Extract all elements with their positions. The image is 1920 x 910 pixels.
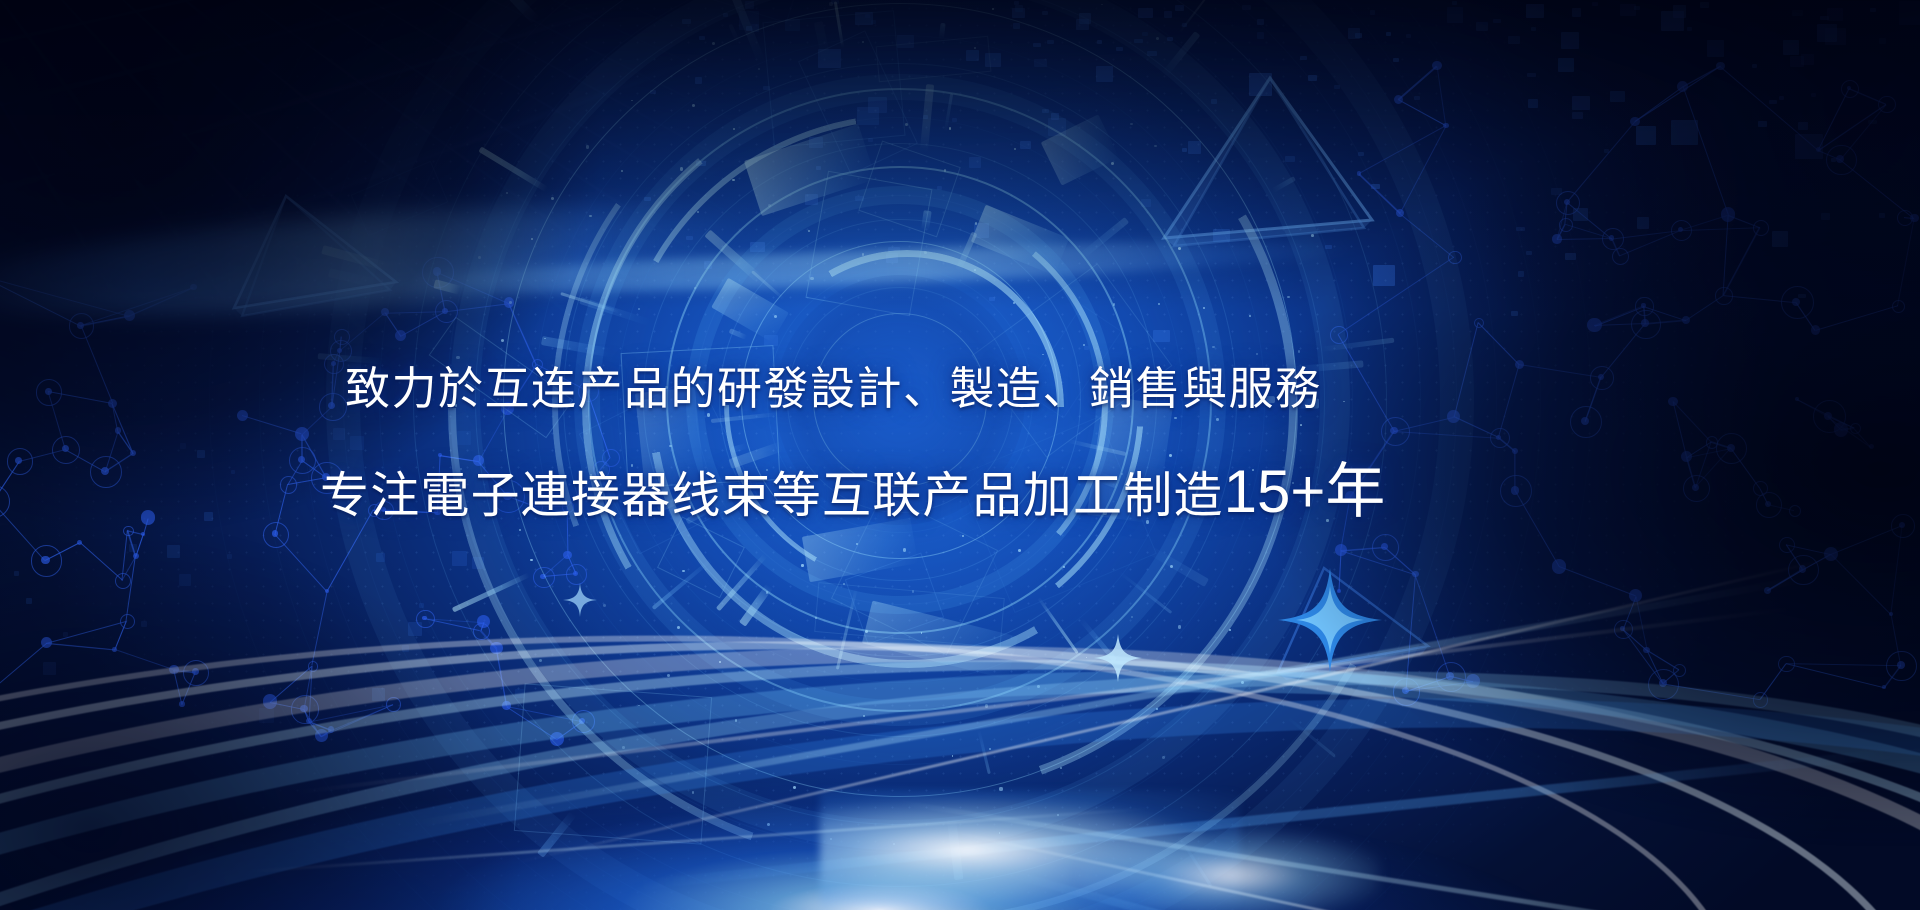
hud-particle [974, 269, 976, 271]
decor-square [1634, 6, 1640, 10]
hud-core [775, 275, 1025, 525]
circuit-node [1878, 96, 1896, 114]
circuit-line [1680, 215, 1728, 231]
decor-square [1783, 40, 1799, 55]
decor-square [1493, 19, 1501, 23]
circuit-node [1897, 210, 1913, 226]
hud-particle [531, 238, 533, 240]
circuit-line [1759, 663, 1786, 700]
hud-particle [1083, 344, 1085, 346]
circuit-line [1622, 629, 1663, 684]
circuit-node [41, 637, 52, 648]
circuit-line [1831, 554, 1892, 615]
hud-particle [975, 222, 978, 225]
circuit-line [1890, 526, 1902, 615]
hud-particle [631, 100, 633, 102]
hud-particle [478, 256, 481, 259]
circuit-line [1728, 215, 1760, 228]
circuit-node-core [1765, 501, 1772, 508]
hud-particle [1170, 565, 1173, 568]
circuit-line [1567, 202, 1612, 239]
hud-particle [999, 832, 1001, 834]
hud-particle [1287, 296, 1290, 299]
hud-particle [1229, 629, 1231, 631]
circuit-line [1594, 306, 1644, 327]
hud-particle [551, 197, 554, 200]
hud-particle [539, 659, 542, 662]
circuit-line [1683, 66, 1721, 88]
decor-square [1636, 126, 1656, 145]
circuit-line [46, 643, 115, 651]
circuit-node [1631, 310, 1660, 339]
circuit-node [1834, 422, 1848, 436]
decor-square [1637, 217, 1649, 229]
hud-particle [497, 398, 499, 400]
circuit-node [1668, 397, 1677, 406]
circuit-node-core [1727, 444, 1735, 452]
hud-tick [1296, 399, 1319, 409]
hud-particle [682, 570, 685, 573]
hud-particle [767, 823, 770, 826]
decor-square [1528, 99, 1538, 108]
circuit-line [1786, 663, 1901, 666]
hud-particle [509, 301, 512, 304]
hud-particle [1037, 685, 1040, 688]
circuit-line [1840, 104, 1887, 160]
circuit-node [1869, 444, 1874, 449]
circuit-node [1716, 433, 1747, 464]
circuit-line [1840, 159, 1915, 219]
decor-square [1817, 24, 1837, 42]
hud-particle [1158, 303, 1160, 305]
hud-particle [752, 368, 754, 370]
circuit-line [1673, 402, 1688, 458]
decor-square [1527, 73, 1536, 77]
circuit-node [1721, 207, 1735, 221]
hud-particle [924, 251, 927, 254]
circuit-line [0, 461, 19, 501]
decor-square [1758, 121, 1767, 127]
decor-square [1795, 134, 1823, 159]
hud-particle [843, 583, 845, 585]
hud-particle [707, 413, 710, 416]
circuit-line [1695, 448, 1731, 488]
circuit-line [0, 643, 46, 708]
decor-square [1811, 93, 1816, 97]
circuit-node-core [1564, 199, 1570, 205]
circuit-line [1662, 670, 1679, 685]
circuit-line [1767, 569, 1803, 591]
circuit-node [77, 540, 82, 545]
four-point-sparkle-right [1270, 560, 1390, 685]
decor-square [1825, 28, 1846, 45]
circuit-line [1818, 88, 1850, 150]
circuit-line [1646, 650, 1663, 684]
hud-particle [1162, 756, 1165, 759]
decor-square [1820, 16, 1829, 20]
four-point-sparkle-center [1090, 630, 1146, 691]
hud-particle [774, 315, 777, 318]
hud-particle [1103, 511, 1106, 514]
circuit-node [1614, 620, 1632, 638]
circuit-node [1682, 316, 1690, 324]
circuit-node [1788, 555, 1818, 585]
hud-particle [631, 464, 634, 467]
decor-square [1620, 4, 1636, 16]
circuit-node [112, 647, 117, 652]
circuit-line [1622, 629, 1647, 651]
circuit-line [1759, 663, 1786, 700]
circuit-line [1635, 66, 1721, 122]
circuit-node [1753, 220, 1769, 236]
circuit-node-core [1692, 484, 1699, 491]
circuit-line [1818, 104, 1886, 151]
circuit-line [46, 643, 115, 651]
decor-square [1526, 4, 1544, 18]
circuit-line [1759, 488, 1768, 505]
hud-particle [1018, 549, 1021, 552]
circuit-node-core [15, 457, 22, 464]
circuit-node [1590, 366, 1614, 390]
circuit-line [1682, 87, 1728, 215]
circuit-node-core [1836, 155, 1844, 163]
circuit-line [1662, 670, 1679, 685]
circuit-node-core [1659, 679, 1667, 687]
decor-square [1769, 100, 1777, 104]
decor-square [1752, 64, 1757, 68]
decor-square [1868, 120, 1877, 124]
circuit-line [1730, 448, 1760, 489]
hud-particle [694, 287, 696, 289]
circuit-node [1824, 547, 1838, 561]
circuit-line [1849, 88, 1886, 105]
circuit-line [1722, 215, 1728, 295]
circuit-node [1779, 537, 1795, 553]
decor-square [1572, 8, 1581, 17]
circuit-node [1826, 145, 1856, 175]
hud-frame [763, 10, 907, 148]
circuit-node [1756, 492, 1782, 518]
hud-particle [1174, 417, 1176, 419]
decor-square [1592, 2, 1598, 6]
hud-particle [1113, 303, 1115, 305]
circuit-line [1646, 650, 1679, 671]
circuit-node [1910, 214, 1918, 222]
circuit-line [1723, 227, 1761, 296]
circuit-line [1622, 629, 1647, 651]
circuit-line [1802, 554, 1831, 570]
circuit-node-core [1847, 86, 1852, 91]
circuit-line [1711, 441, 1731, 448]
hud-particle [586, 145, 589, 148]
hud-particle [455, 404, 457, 406]
circuit-line [1759, 488, 1768, 505]
circuit-node-core [62, 445, 69, 452]
circuit-line [1786, 544, 1803, 570]
circuit-line [1686, 441, 1711, 457]
circuit-node [1889, 612, 1893, 616]
circuit-line [1849, 88, 1886, 105]
decor-square [1531, 27, 1536, 31]
circuit-line [1797, 399, 1855, 429]
circuit-node-core [1598, 374, 1604, 380]
hud-particle [862, 41, 864, 43]
circuit-line [1594, 306, 1644, 327]
hud-particle [677, 626, 680, 629]
circuit-line [1786, 544, 1803, 570]
hud-particle [801, 564, 803, 566]
circuit-line [0, 501, 46, 561]
circuit-node-core [1641, 303, 1645, 307]
circuit-line [1680, 227, 1759, 231]
hud-particle [944, 169, 947, 172]
hud-particle [1178, 625, 1181, 628]
hud-particle [667, 674, 670, 677]
four-point-sparkle-left [560, 580, 600, 625]
hud-particle [999, 787, 1002, 790]
circuit-node [1683, 475, 1710, 502]
circuit-line [1854, 428, 1872, 448]
hud-particle [912, 590, 914, 592]
circuit-line [1612, 230, 1681, 240]
circuit-line [1663, 683, 1760, 700]
circuit-node [1635, 297, 1653, 315]
circuit-line [1686, 295, 1724, 321]
circuit-node [1882, 685, 1886, 689]
hud-particle [539, 395, 541, 397]
circuit-line [1728, 215, 1760, 228]
decor-square [1661, 11, 1684, 31]
hud-particle [1252, 469, 1254, 471]
hud-particle [680, 167, 683, 170]
circuit-line [1831, 525, 1902, 555]
circuit-node [1671, 220, 1692, 241]
hud-particle [1300, 424, 1302, 426]
decor-square [1899, 1, 1920, 25]
circuit-line [1635, 596, 1647, 650]
hud-particle [1216, 418, 1219, 421]
decor-square [1700, 2, 1709, 8]
circuit-node-core [1792, 298, 1800, 306]
circuit-line [45, 542, 80, 561]
circuit-node [1673, 664, 1686, 677]
circuit-node [1850, 423, 1861, 434]
circuit-node [1841, 80, 1859, 98]
decor-square [1870, 8, 1876, 12]
circuit-line [1611, 238, 1620, 256]
decor-square [26, 598, 32, 604]
circuit-node [1892, 300, 1905, 313]
decor-square [43, 662, 56, 675]
circuit-node [1764, 587, 1771, 594]
decor-square [1792, 10, 1803, 16]
circuit-node [1629, 589, 1642, 602]
circuit-line [1897, 218, 1915, 306]
decor-square [1508, 36, 1520, 44]
circuit-node-core [1897, 661, 1905, 669]
hud-particle [985, 704, 988, 707]
circuit-line [1730, 448, 1760, 489]
circuit-line [1683, 66, 1721, 88]
circuit-line [1828, 416, 1872, 448]
decor-square [141, 621, 147, 627]
decor-square [1879, 38, 1886, 44]
decor-square [63, 632, 68, 637]
circuit-node-core [1620, 626, 1625, 631]
circuit-node [1891, 514, 1915, 538]
circuit-node-core [1678, 227, 1683, 232]
circuit-node [1781, 286, 1814, 319]
circuit-line [1904, 217, 1914, 219]
hud-block [635, 387, 705, 493]
circuit-line [1635, 66, 1721, 122]
circuit-line [1635, 87, 1684, 123]
circuit-node-core [1824, 412, 1833, 421]
circuit-line [1695, 442, 1712, 488]
circuit-line [1559, 567, 1636, 597]
hud-particle [856, 543, 858, 545]
circuit-line [1635, 87, 1684, 123]
circuit-node [7, 448, 34, 475]
decor-square [1671, 120, 1698, 145]
hud-particle [665, 386, 668, 389]
hud-particle [733, 128, 735, 130]
circuit-node [0, 485, 10, 518]
circuit-node [120, 614, 135, 629]
circuit-line [1687, 448, 1731, 458]
circuit-line [1828, 416, 1842, 430]
decor-square [14, 571, 19, 576]
hud-particle [905, 123, 908, 126]
circuit-node [1778, 656, 1794, 672]
circuit-line [1645, 320, 1686, 325]
circuit-line [1567, 121, 1636, 202]
hud-particle [862, 253, 865, 256]
circuit-line [1594, 323, 1645, 326]
hud-particle [732, 179, 735, 182]
decor-square [1821, 213, 1830, 220]
circuit-node-core [1899, 522, 1905, 528]
circuit-node [1813, 400, 1846, 433]
circuit-line [1797, 399, 1829, 417]
circuit-node [1789, 505, 1802, 518]
circuit-node [1602, 228, 1624, 250]
decor-square [1573, 208, 1588, 221]
decor-square [1673, 5, 1686, 18]
circuit-node [1716, 62, 1725, 71]
circuit-node-core [41, 556, 49, 564]
hud-particle [903, 548, 906, 551]
circuit-line [1720, 66, 1819, 151]
circuit-line [1643, 306, 1686, 321]
circuit-node [1681, 451, 1692, 462]
circuit-node [1715, 287, 1732, 304]
decor-square [1798, 294, 1806, 298]
decor-square [1801, 54, 1814, 65]
hud-particle [692, 104, 695, 107]
circuit-node [1706, 436, 1718, 448]
decor-square [1687, 27, 1692, 31]
hud-particle [622, 746, 625, 749]
circuit-node [1816, 147, 1821, 152]
circuit-line [1686, 457, 1696, 488]
circuit-line [1786, 544, 1831, 555]
hud-particle [1326, 519, 1329, 522]
hud-particle [810, 277, 813, 280]
circuit-line [1818, 88, 1850, 150]
circuit-node [1587, 318, 1601, 332]
circuit-line [45, 542, 80, 561]
circuit-node [1648, 669, 1679, 700]
circuit-line [1841, 428, 1854, 431]
circuit-line [1646, 650, 1663, 684]
circuit-line [1815, 305, 1898, 331]
circuit-node [1886, 651, 1916, 681]
circuit-line [1818, 150, 1840, 160]
circuit-node-core [1799, 565, 1807, 573]
decor-square [1772, 231, 1788, 247]
circuit-line [1645, 320, 1686, 325]
circuit-line [1600, 323, 1645, 378]
circuit-line [1673, 402, 1711, 443]
hud-particle [1146, 520, 1149, 523]
hud-particle [829, 2, 832, 5]
hud-particle [456, 356, 459, 359]
circuit-line [1828, 416, 1855, 429]
decor-square [1790, 56, 1804, 67]
circuit-line [1768, 504, 1794, 511]
circuit-line [1767, 554, 1831, 591]
circuit-node [1811, 325, 1820, 334]
circuit-line [1818, 104, 1886, 151]
circuit-node-core [1609, 235, 1615, 241]
decor-square [1831, 158, 1836, 162]
circuit-line [1619, 230, 1681, 257]
circuit-line [1786, 663, 1885, 688]
decor-square [1779, 96, 1784, 100]
circuit-line [1686, 457, 1696, 488]
hud-tick [1251, 396, 1275, 403]
circuit-line [114, 621, 127, 650]
circuit-line [1643, 306, 1646, 324]
decor-square [1610, 91, 1625, 102]
circuit-line [1818, 150, 1840, 160]
circuit-line [1723, 227, 1761, 296]
circuit-line [1841, 428, 1854, 431]
hud-particle [530, 559, 533, 562]
circuit-line [19, 449, 66, 462]
decor-square [1572, 96, 1590, 110]
circuit-line [46, 621, 127, 644]
circuit-line [1611, 238, 1620, 256]
hud-frame [513, 683, 712, 844]
circuit-node [1753, 692, 1769, 708]
decor-square [1558, 58, 1574, 72]
circuit-line [1796, 302, 1816, 331]
circuit-node [1612, 248, 1629, 265]
decor-square [1604, 149, 1609, 153]
decor-square [1707, 40, 1724, 57]
circuit-line [0, 461, 19, 501]
decor-square [1572, 112, 1583, 119]
hud-particle [989, 748, 991, 750]
circuit-line [1890, 615, 1901, 666]
circuit-node-core [1641, 319, 1648, 326]
circuit-line [1884, 665, 1901, 688]
hud-particle [766, 591, 768, 593]
hero-banner: 致力於互连产品的研發設計、製造、銷售與服務 专注電子連接器线束等互联产品加工制造… [0, 0, 1920, 910]
decor-square [1798, 122, 1808, 130]
